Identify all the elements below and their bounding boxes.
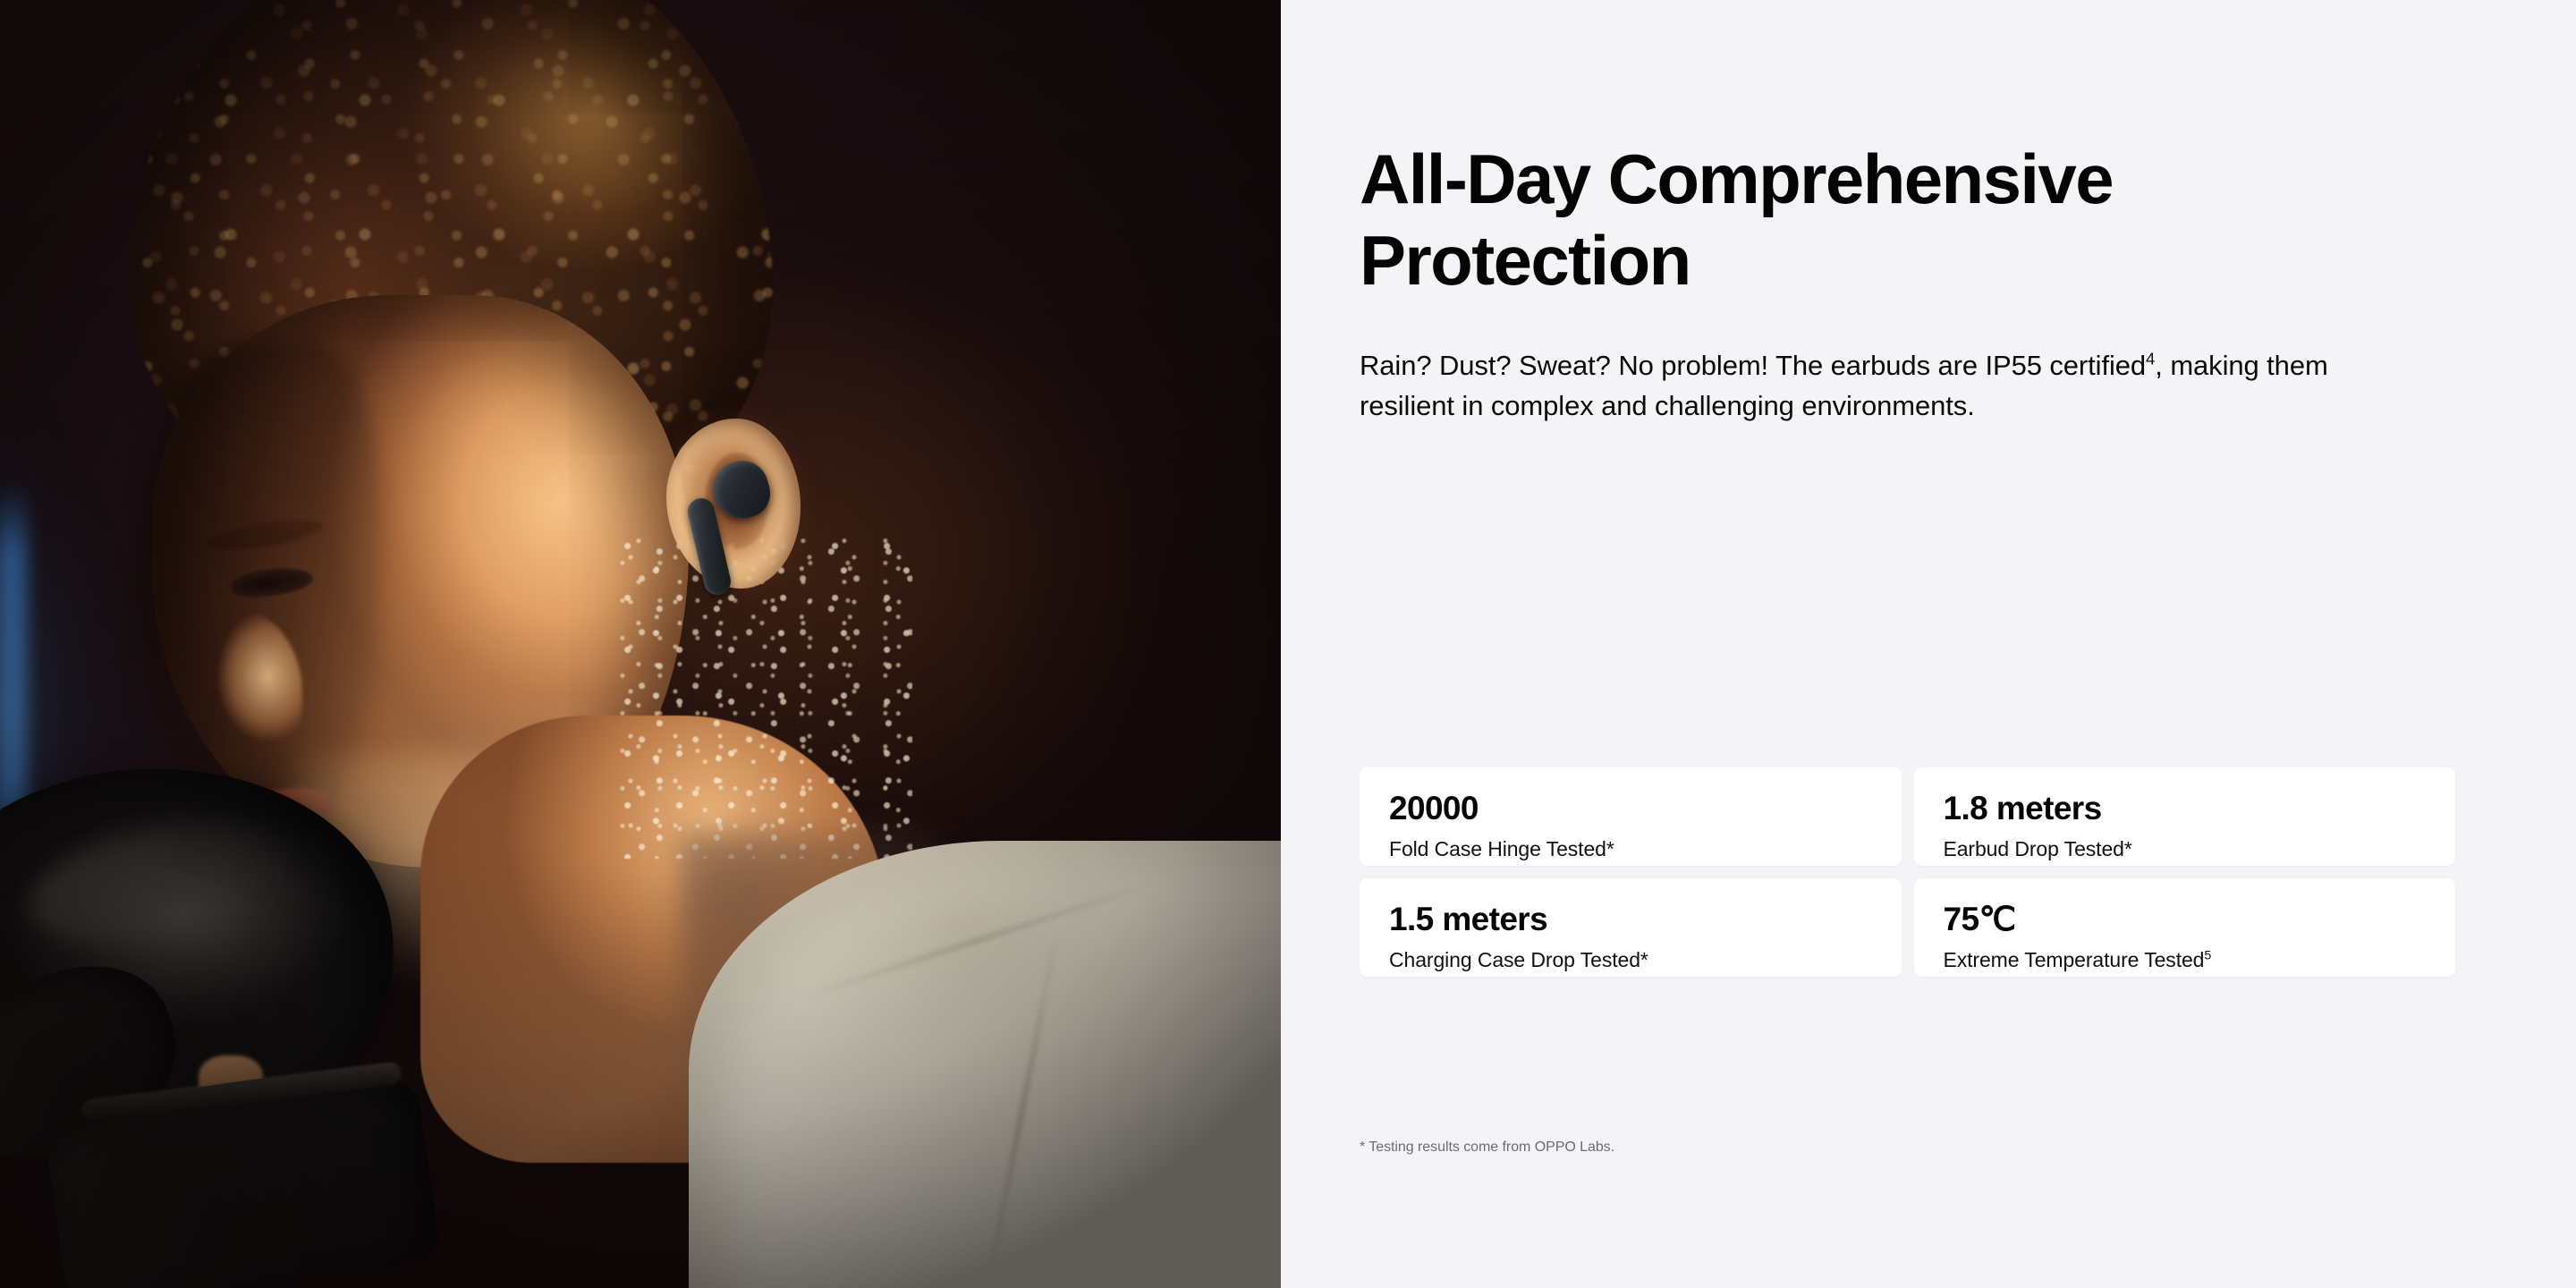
stat-card-earbud-drop: 1.8 meters Earbud Drop Tested*	[1914, 767, 2456, 866]
stat-label-text: Fold Case Hinge Tested*	[1389, 837, 1614, 860]
testing-footnote: * Testing results come from OPPO Labs.	[1360, 1140, 1614, 1156]
hero-photo	[0, 0, 1281, 1288]
description-text-lead: Rain? Dust? Sweat? No problem! The earbu…	[1360, 350, 2146, 381]
stat-card-temperature: 75℃ Extreme Temperature Tested5	[1914, 878, 2456, 977]
stat-label: Extreme Temperature Tested5	[1944, 948, 2456, 973]
copy-block: All-Day Comprehensive Protection Rain? D…	[1360, 139, 2428, 427]
stat-label-text: Extreme Temperature Tested	[1944, 948, 2205, 971]
stat-card-case-drop: 1.5 meters Charging Case Drop Tested*	[1360, 878, 1902, 977]
stats-grid: 20000 Fold Case Hinge Tested* 1.8 meters…	[1360, 767, 2455, 977]
sweat-droplets	[617, 537, 912, 859]
footnote-ref-4: 4	[2146, 349, 2155, 368]
stat-label-text: Earbud Drop Tested*	[1944, 837, 2132, 860]
stat-label-text: Charging Case Drop Tested*	[1389, 948, 1648, 971]
stat-label: Charging Case Drop Tested*	[1389, 948, 1902, 973]
stat-value: 75℃	[1944, 902, 2456, 938]
page-title: All-Day Comprehensive Protection	[1360, 139, 2428, 302]
stat-label: Fold Case Hinge Tested*	[1389, 837, 1902, 862]
stat-footnote-ref: 5	[2204, 948, 2211, 962]
stat-card-hinge: 20000 Fold Case Hinge Tested*	[1360, 767, 1902, 866]
feature-description: Rain? Dust? Sweat? No problem! The earbu…	[1360, 345, 2415, 428]
product-feature-page: All-Day Comprehensive Protection Rain? D…	[0, 0, 2576, 1288]
stat-value: 1.8 meters	[1944, 791, 2456, 827]
stat-value: 20000	[1389, 791, 1902, 827]
feature-content-panel: All-Day Comprehensive Protection Rain? D…	[1281, 0, 2576, 1288]
stat-label: Earbud Drop Tested*	[1944, 837, 2456, 862]
stat-value: 1.5 meters	[1389, 902, 1902, 938]
